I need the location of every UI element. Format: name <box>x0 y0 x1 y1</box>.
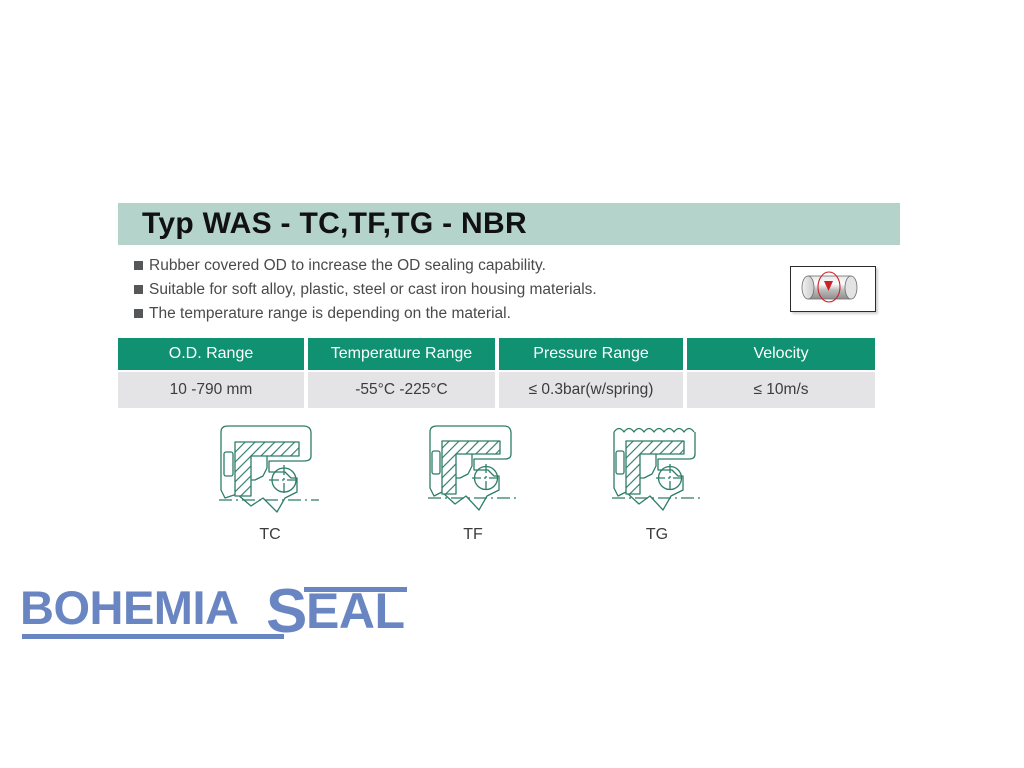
bohemia-seal-logo: BOHEMIA S EAL <box>18 578 418 644</box>
seal-cross-section-tg <box>594 420 720 524</box>
seal-diagram-tf: TF <box>408 420 538 544</box>
table-header-row: O.D. Range Temperature Range Pressure Ra… <box>118 338 875 370</box>
cell-pressure-range: ≤ 0.3bar(w/spring) <box>499 372 683 408</box>
rotating-shaft-icon-box <box>790 266 876 312</box>
list-item: Rubber covered OD to increase the OD sea… <box>134 256 734 277</box>
column-header-pressure-range: Pressure Range <box>499 338 683 370</box>
logo-text-bohemia: BOHEMIA <box>20 581 238 634</box>
column-header-temperature-range: Temperature Range <box>308 338 495 370</box>
list-item: Suitable for soft alloy, plastic, steel … <box>134 280 734 301</box>
seal-label-tc: TC <box>205 526 335 544</box>
title-banner: Typ WAS - TC,TF,TG - NBR <box>118 203 900 245</box>
seal-label-tg: TG <box>592 526 722 544</box>
table-row: 10 -790 mm -55°C -225°C ≤ 0.3bar(w/sprin… <box>118 372 875 408</box>
seal-label-tf: TF <box>408 526 538 544</box>
list-item: The temperature range is depending on th… <box>134 304 734 325</box>
feature-list: Rubber covered OD to increase the OD sea… <box>134 256 734 328</box>
specification-table: O.D. Range Temperature Range Pressure Ra… <box>118 338 875 410</box>
logo-underline <box>22 634 284 639</box>
page-title: Typ WAS - TC,TF,TG - NBR <box>142 207 527 241</box>
logo-overline <box>304 587 407 592</box>
rotating-shaft-icon <box>791 267 872 308</box>
cell-velocity: ≤ 10m/s <box>687 372 875 408</box>
feature-text: Suitable for soft alloy, plastic, steel … <box>149 280 597 299</box>
column-header-od-range: O.D. Range <box>118 338 304 370</box>
bullet-square-icon <box>134 261 143 270</box>
cell-temperature-range: -55°C -225°C <box>308 372 495 408</box>
company-logo: BOHEMIA S EAL <box>18 578 418 644</box>
cell-od-range: 10 -790 mm <box>118 372 304 408</box>
seal-diagram-tc: TC <box>205 420 335 544</box>
feature-text: The temperature range is depending on th… <box>149 304 511 323</box>
bullet-square-icon <box>134 309 143 318</box>
bullet-square-icon <box>134 285 143 294</box>
seal-cross-section-tc <box>207 420 333 524</box>
seal-diagram-tg: TG <box>592 420 722 544</box>
seal-cross-section-tf <box>410 420 536 524</box>
column-header-velocity: Velocity <box>687 338 875 370</box>
feature-text: Rubber covered OD to increase the OD sea… <box>149 256 546 275</box>
